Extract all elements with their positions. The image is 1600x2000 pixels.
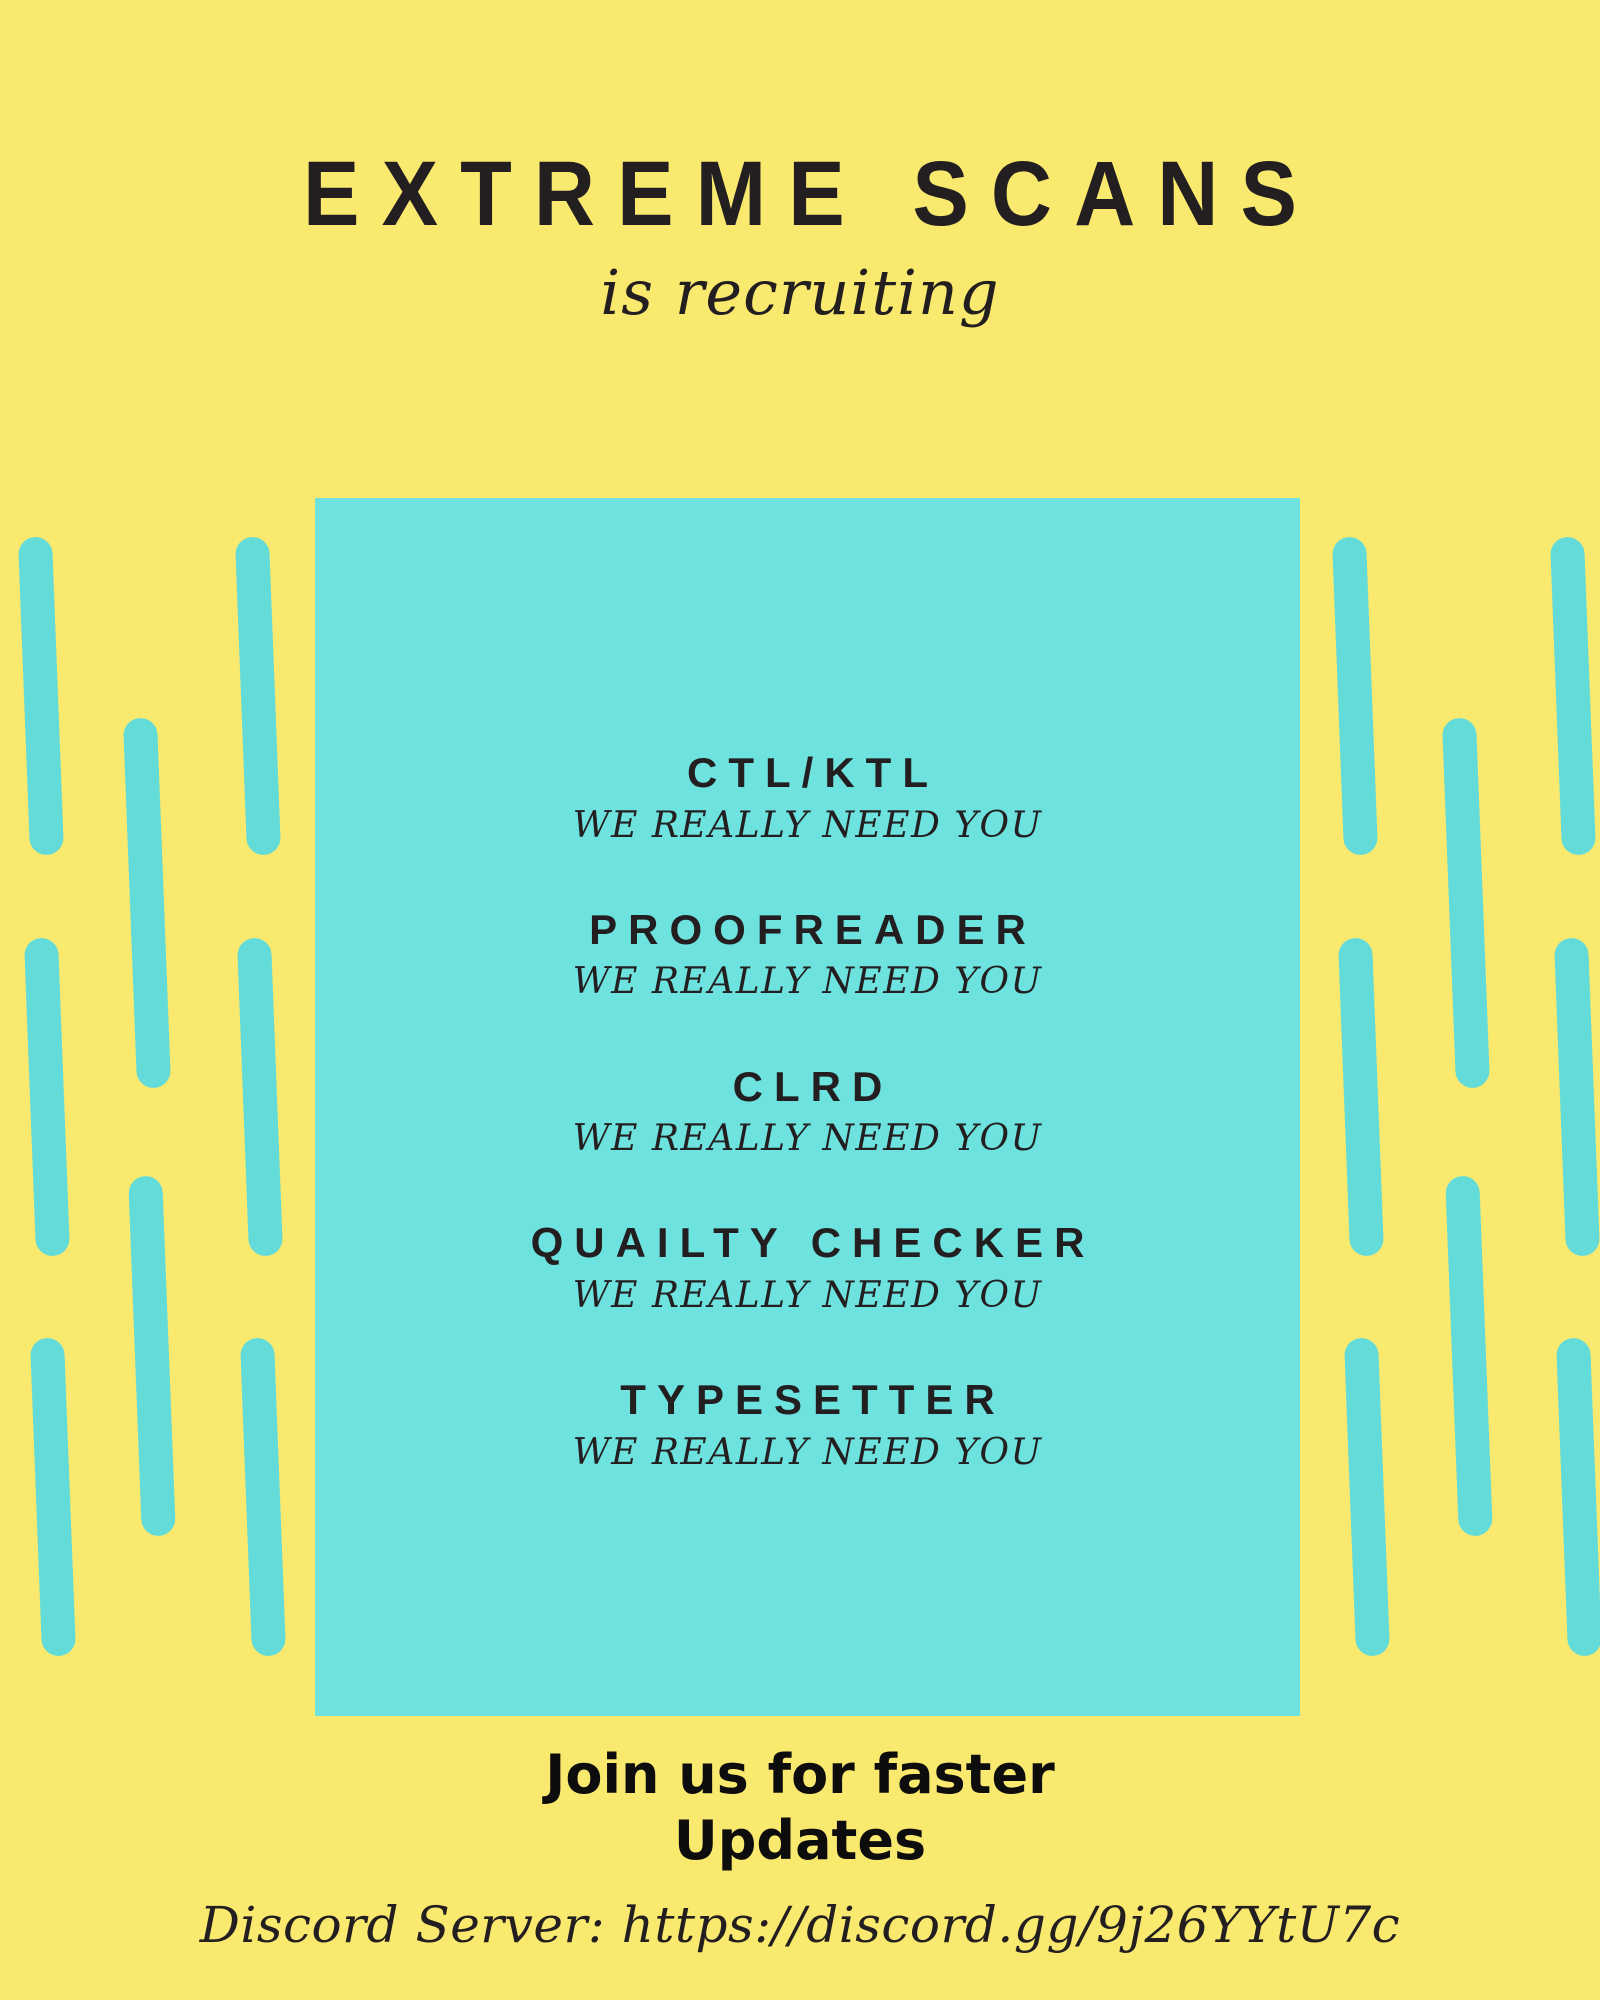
decorative-stroke bbox=[1338, 937, 1384, 1256]
discord-server-link[interactable]: Discord Server: https://discord.gg/9j26Y… bbox=[0, 1898, 1600, 1953]
role-title: CTL/KTL bbox=[315, 748, 1300, 798]
cta-line-1: Join us for faster bbox=[0, 1742, 1600, 1808]
role-item: CLRD WE REALLY NEED YOU bbox=[315, 1062, 1300, 1161]
decorative-stroke bbox=[1554, 937, 1600, 1256]
decorative-stroke bbox=[1445, 1175, 1493, 1536]
role-item: QUAILTY CHECKER WE REALLY NEED YOU bbox=[315, 1218, 1300, 1317]
poster-header: EXTREME SCANS is recruiting bbox=[0, 0, 1600, 324]
decorative-stroke bbox=[1442, 717, 1490, 1088]
poster-canvas: EXTREME SCANS is recruiting CTL/KTL WE R… bbox=[0, 0, 1600, 2000]
role-title: QUAILTY CHECKER bbox=[315, 1218, 1300, 1268]
role-title: PROOFREADER bbox=[315, 905, 1300, 955]
decorative-stroke bbox=[1556, 1337, 1600, 1656]
role-note: WE REALLY NEED YOU bbox=[315, 1117, 1300, 1160]
role-title: CLRD bbox=[315, 1062, 1300, 1112]
role-note: WE REALLY NEED YOU bbox=[315, 960, 1300, 1003]
decorative-stroke bbox=[1344, 1337, 1390, 1656]
role-note: WE REALLY NEED YOU bbox=[315, 1274, 1300, 1317]
decorative-stroke bbox=[18, 536, 64, 855]
role-item: CTL/KTL WE REALLY NEED YOU bbox=[315, 748, 1300, 847]
roles-panel: CTL/KTL WE REALLY NEED YOU PROOFREADER W… bbox=[315, 498, 1300, 1716]
cta-line-2: Updates bbox=[0, 1808, 1600, 1874]
decorative-stroke bbox=[30, 1337, 76, 1656]
roles-list: CTL/KTL WE REALLY NEED YOU PROOFREADER W… bbox=[315, 498, 1300, 1716]
poster-title: EXTREME SCANS bbox=[64, 0, 1536, 240]
decorative-stroke bbox=[24, 937, 70, 1256]
decorative-stroke bbox=[235, 536, 281, 855]
role-title: TYPESETTER bbox=[315, 1375, 1300, 1425]
decorative-stroke bbox=[237, 937, 283, 1256]
decorative-stroke bbox=[1550, 536, 1596, 855]
decorative-stroke bbox=[123, 717, 171, 1088]
decorative-stroke bbox=[128, 1175, 176, 1536]
role-note: WE REALLY NEED YOU bbox=[315, 804, 1300, 847]
decorative-stroke bbox=[1332, 536, 1378, 855]
role-item: TYPESETTER WE REALLY NEED YOU bbox=[315, 1375, 1300, 1474]
decorative-stroke bbox=[240, 1337, 286, 1656]
call-to-action: Join us for faster Updates bbox=[0, 1742, 1600, 1874]
role-note: WE REALLY NEED YOU bbox=[315, 1431, 1300, 1474]
poster-subtitle: is recruiting bbox=[0, 240, 1600, 324]
role-item: PROOFREADER WE REALLY NEED YOU bbox=[315, 905, 1300, 1004]
